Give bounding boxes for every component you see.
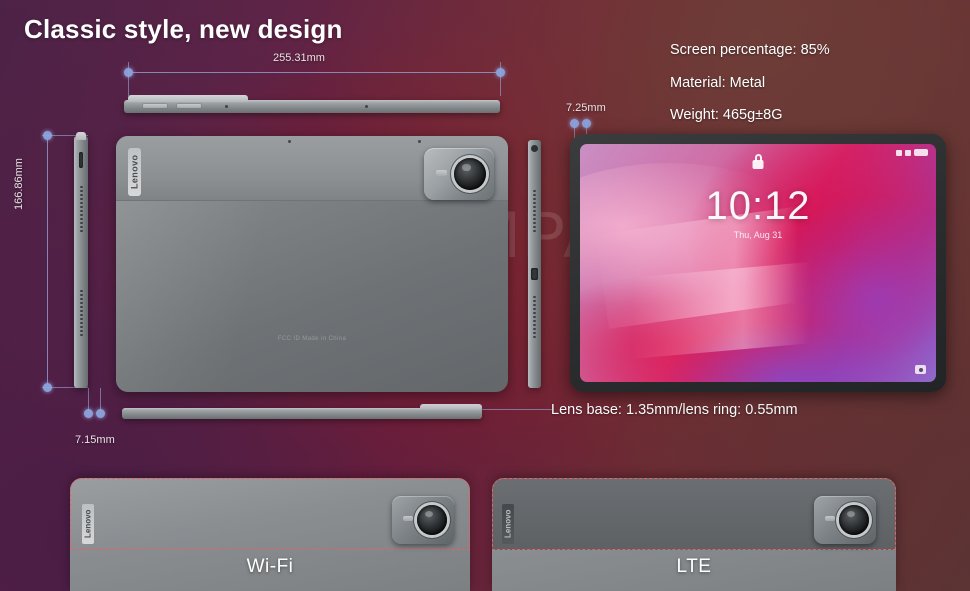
microphone-hole-2 — [418, 140, 421, 143]
signal-icon — [905, 150, 911, 156]
left-edge-speaker-grille — [80, 186, 83, 232]
product-infographic: SZCTCOMPANY Classic style, new design Sc… — [0, 0, 970, 591]
dimension-thickness-left-label: 7.15mm — [75, 434, 115, 446]
variant-lenovo-logo: Lenovo — [502, 504, 514, 544]
variant-camera-lens — [417, 505, 447, 535]
camera-flash — [825, 516, 835, 521]
dimension-width-line — [129, 72, 501, 73]
microphone-hole — [288, 140, 291, 143]
variant-card-lte: Lenovo LTE — [492, 478, 896, 591]
dimension-height-line — [47, 136, 48, 388]
dimension-width-end-tick — [500, 62, 501, 96]
lock-icon — [753, 160, 764, 169]
lenovo-logo: Lenovo — [128, 148, 141, 196]
spec-screen-percentage: Screen percentage: 85% — [670, 42, 830, 58]
right-edge-speaker-grille-2 — [533, 296, 536, 338]
tablet-back-view: Lenovo FCC ID Made in China — [116, 136, 508, 392]
right-edge-port — [531, 268, 538, 280]
left-edge-port — [79, 152, 83, 168]
variant-label-lte: LTE — [492, 556, 896, 578]
status-bar — [896, 149, 928, 156]
battery-icon — [914, 149, 928, 156]
camera-flash — [403, 516, 413, 521]
tablet-front-view: 10:12 Thu, Aug 31 — [570, 134, 946, 392]
thickness-left-tick-a — [88, 388, 89, 412]
page-title: Classic style, new design — [24, 14, 343, 45]
dimension-width-label: 255.31mm — [273, 52, 325, 64]
volume-button — [176, 103, 202, 109]
lens-caption: Lens base: 1.35mm/lens ring: 0.55mm — [551, 402, 798, 418]
lens-caption-leader — [470, 409, 552, 410]
dimension-thickness-right-label: 7.25mm — [566, 102, 606, 114]
camera-flash — [436, 170, 447, 176]
lockscreen-clock: 10:12 — [705, 184, 810, 229]
wifi-icon — [896, 150, 902, 156]
rear-camera-module — [424, 148, 494, 200]
lockscreen-date: Thu, Aug 31 — [734, 230, 783, 240]
power-button — [142, 103, 168, 109]
variant-lenovo-logo: Lenovo — [82, 504, 94, 544]
spec-material: Material: Metal — [670, 75, 765, 91]
rear-camera-lens — [454, 158, 486, 190]
variant-camera-module — [392, 496, 454, 544]
variant-camera-module — [814, 496, 876, 544]
camera-icon[interactable] — [915, 365, 926, 374]
variant-label-wifi: Wi-Fi — [70, 556, 470, 578]
dimension-width-start-tick — [128, 62, 129, 96]
variant-card-wifi: Lenovo Wi-Fi — [70, 478, 470, 591]
dimension-height-label: 166.86mm — [13, 158, 25, 210]
spec-weight: Weight: 465g±8G — [670, 107, 782, 123]
right-edge-speaker-grille — [533, 190, 536, 232]
regulatory-text: FCC ID Made in China — [278, 336, 346, 342]
left-edge-speaker-grille-2 — [80, 290, 83, 336]
variant-camera-lens — [839, 505, 869, 535]
tablet-screen: 10:12 Thu, Aug 31 — [580, 144, 936, 382]
right-edge-camera-dot — [531, 145, 538, 152]
thickness-left-tick-b — [100, 388, 101, 412]
